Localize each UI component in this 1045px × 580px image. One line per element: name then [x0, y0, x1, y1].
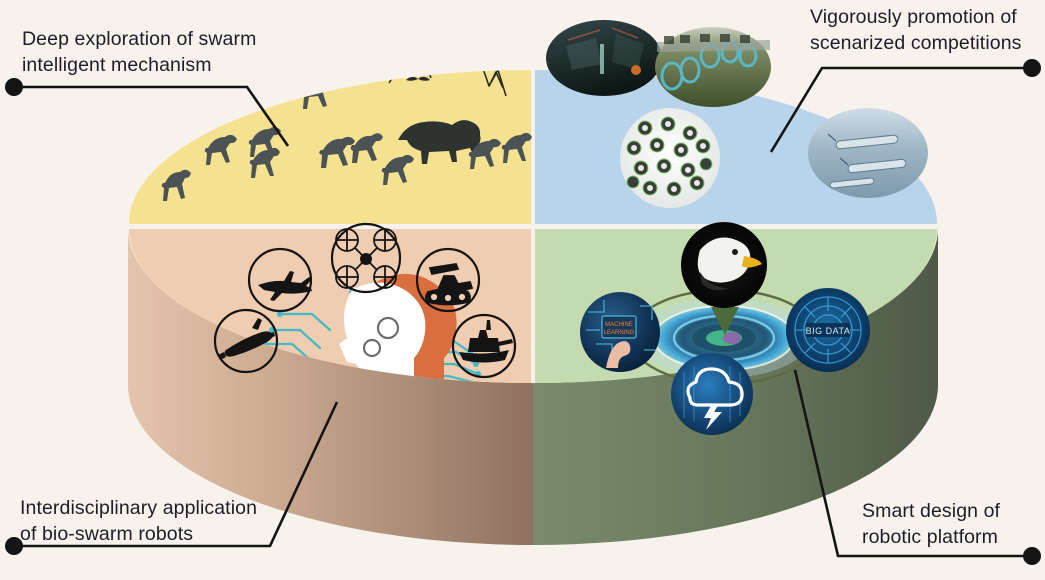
drone-race-hoops-photo[interactable] [655, 27, 771, 107]
underwater-vehicles-photo[interactable] [808, 108, 928, 198]
callout-label-bottom-right: Smart design of robotic platform [862, 498, 1000, 550]
callout-label-top-left: Deep exploration of swarm intelligent me… [22, 26, 256, 78]
callout-label-bottom-left: Interdisciplinary application of bio-swa… [20, 495, 257, 547]
machine-learning-photo[interactable]: MACHINE LEARNING [580, 292, 660, 372]
leader-dot-top-right[interactable] [1023, 59, 1041, 77]
infographic-canvas: MACHINE LEARNING BIG DATA [0, 0, 1045, 580]
cylinder-diagram: MACHINE LEARNING BIG DATA [0, 0, 1045, 580]
leader-dot-top-left[interactable] [5, 78, 23, 96]
machine-learning-label: MACHINE [605, 322, 633, 328]
svg-text:LEARNING: LEARNING [604, 330, 635, 336]
big-data-label: BIG DATA [806, 326, 851, 336]
leader-dot-bottom-right[interactable] [1023, 547, 1041, 565]
big-data-photo[interactable]: BIG DATA [786, 288, 870, 372]
microrobot-swarm-photo[interactable] [620, 108, 720, 208]
bird-flock-silhouettes [318, 7, 433, 81]
callout-label-top-right: Vigorously promotion of scenarized compe… [810, 4, 1022, 56]
cloud-computing-photo[interactable] [671, 353, 753, 435]
underground-tunnel-photo[interactable] [546, 20, 662, 96]
eagle-photo[interactable] [681, 222, 767, 308]
